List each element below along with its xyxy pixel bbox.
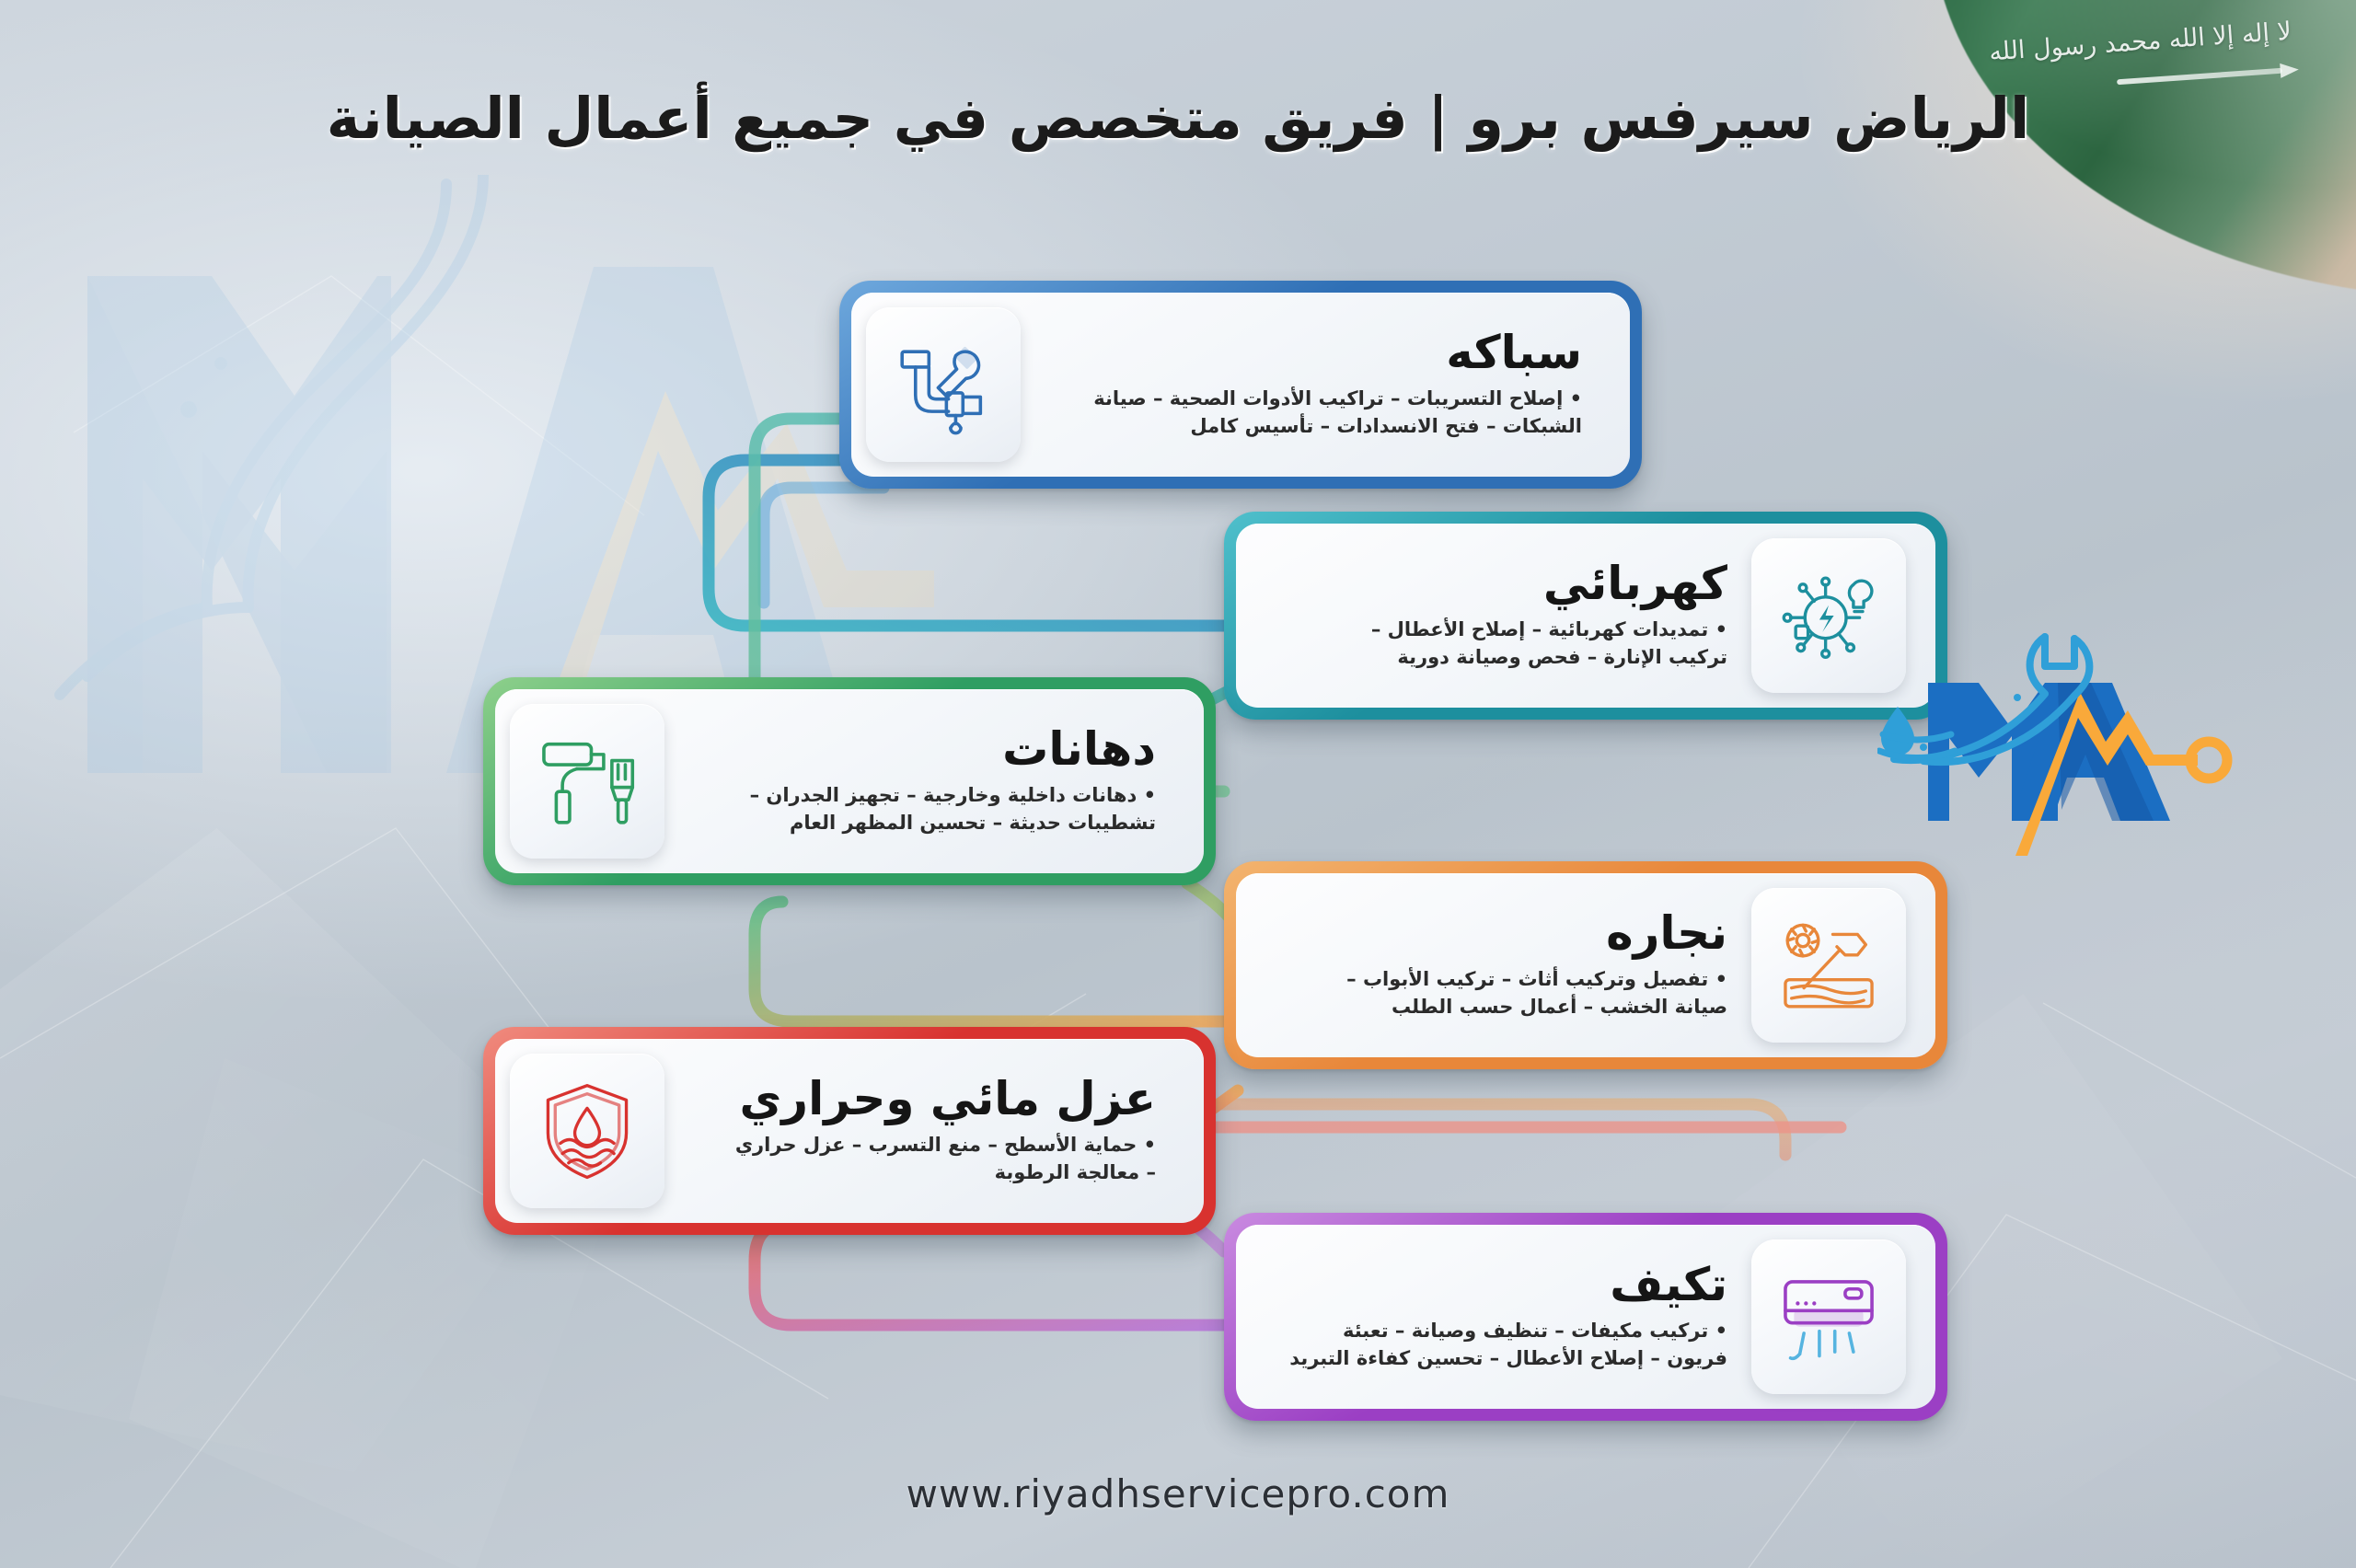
service-card-body: تكيف• تركيب مكيفات – تنظيف وصيانة – تعبئ… (1236, 1225, 1935, 1409)
service-card-body: دهانات• دهانات داخلية وخارجية – تجهيز ال… (495, 689, 1204, 873)
service-card-body: نجاره• تفصيل وتركيب أثاث – تركيب الأبواب… (1236, 873, 1935, 1057)
service-card-text: نجاره• تفصيل وتركيب أثاث – تركيب الأبواب… (1251, 909, 1751, 1020)
service-card-text: كهربائي• تمديدات كهربائية – إصلاح الأعطا… (1251, 559, 1751, 671)
service-subtitle: • تمديدات كهربائية – إصلاح الأعطال – ترك… (1260, 616, 1727, 672)
pipe-wrench-icon (866, 307, 1021, 462)
service-card-body: كهربائي• تمديدات كهربائية – إصلاح الأعطا… (1236, 524, 1935, 708)
service-subtitle: • إصلاح التسريبات – تراكيب الأدوات الصحي… (1035, 385, 1582, 441)
service-title: نجاره (1260, 909, 1727, 958)
service-card-painting[interactable]: دهانات• دهانات داخلية وخارجية – تجهيز ال… (483, 677, 1216, 885)
service-card-plumbing[interactable]: سباكه• إصلاح التسريبات – تراكيب الأدوات … (839, 281, 1642, 489)
service-subtitle: • حماية الأسطح – منع التسرب – عزل حراري … (679, 1131, 1156, 1187)
service-card-text: دهانات• دهانات داخلية وخارجية – تجهيز ال… (670, 725, 1180, 836)
service-title: تكيف (1260, 1261, 1727, 1309)
service-title: كهربائي (1260, 559, 1727, 608)
service-title: دهانات (679, 725, 1156, 774)
shield-water-drop-icon (510, 1054, 664, 1208)
brand-logo (1877, 626, 2246, 856)
service-subtitle: • دهانات داخلية وخارجية – تجهيز الجدران … (679, 781, 1156, 837)
air-conditioner-icon (1751, 1239, 1906, 1394)
service-card-body: عزل مائي وحراري• حماية الأسطح – منع التس… (495, 1039, 1204, 1223)
service-title: سباكه (1035, 329, 1582, 377)
hammer-saw-wood-icon (1751, 888, 1906, 1043)
service-title: عزل مائي وحراري (679, 1075, 1156, 1124)
service-card-text: تكيف• تركيب مكيفات – تنظيف وصيانة – تعبئ… (1251, 1261, 1751, 1372)
service-card-electrical[interactable]: كهربائي• تمديدات كهربائية – إصلاح الأعطا… (1224, 512, 1947, 720)
website-url[interactable]: www.riyadhservicepro.com (0, 1471, 2356, 1516)
service-card-text: سباكه• إصلاح التسريبات – تراكيب الأدوات … (1026, 329, 1606, 440)
service-subtitle: • تفصيل وتركيب أثاث – تركيب الأبواب – صي… (1260, 965, 1727, 1021)
paint-roller-brush-icon (510, 704, 664, 859)
service-card-carpentry[interactable]: نجاره• تفصيل وتركيب أثاث – تركيب الأبواب… (1224, 861, 1947, 1069)
service-card-body: سباكه• إصلاح التسريبات – تراكيب الأدوات … (851, 293, 1630, 477)
service-card-text: عزل مائي وحراري• حماية الأسطح – منع التس… (670, 1075, 1180, 1186)
service-card-hvac[interactable]: تكيف• تركيب مكيفات – تنظيف وصيانة – تعبئ… (1224, 1213, 1947, 1421)
service-card-insulation[interactable]: عزل مائي وحراري• حماية الأسطح – منع التس… (483, 1027, 1216, 1235)
service-subtitle: • تركيب مكيفات – تنظيف وصيانة – تعبئة فر… (1260, 1317, 1727, 1373)
